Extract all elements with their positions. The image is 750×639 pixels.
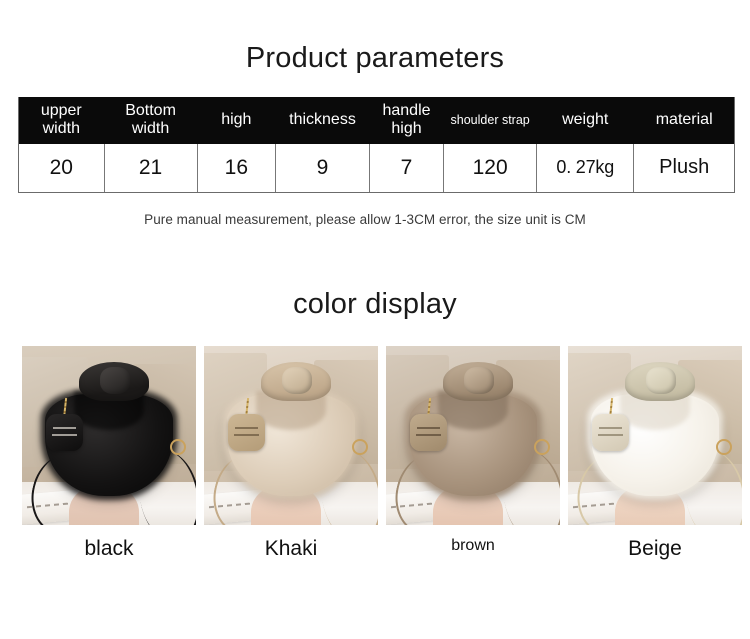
strap-ring-icon	[534, 439, 550, 455]
column-header-upper-width: upper width	[19, 97, 104, 144]
value-shoulder-strap: 120	[444, 144, 537, 192]
value-thickness: 9	[276, 144, 370, 192]
value-bottom-width: 21	[104, 144, 197, 192]
handle-knot	[646, 367, 676, 394]
color-swatch-row: black	[22, 346, 734, 560]
product-photo-scene	[568, 346, 742, 525]
color-label-black: black	[22, 537, 196, 560]
color-option-beige[interactable]: Beige	[568, 346, 742, 560]
product-image-brown[interactable]	[386, 346, 560, 525]
product-image-khaki[interactable]	[204, 346, 378, 525]
product-photo-scene	[204, 346, 378, 525]
color-label-khaki: Khaki	[204, 537, 378, 560]
tag-text-line	[234, 434, 260, 436]
strap-ring-icon	[170, 439, 186, 455]
column-header-material: material	[634, 97, 734, 144]
brand-tag	[592, 414, 629, 452]
brand-tag	[228, 414, 265, 452]
column-header-thickness: thickness	[276, 97, 370, 144]
handle-knot	[464, 367, 494, 394]
handle-knot	[100, 367, 130, 394]
color-label-brown: brown	[386, 537, 560, 555]
handle-knot	[282, 367, 312, 394]
color-display-title: color display	[0, 227, 750, 321]
tag-text-line	[599, 427, 622, 429]
tag-text-line	[416, 434, 442, 436]
value-high: 16	[197, 144, 276, 192]
tag-text-line	[235, 427, 258, 429]
measurement-disclaimer: Pure manual measurement, please allow 1-…	[0, 212, 730, 227]
strap-ring-icon	[716, 439, 732, 455]
page-title: Product parameters	[0, 0, 750, 75]
brand-tag	[410, 414, 447, 452]
column-header-handle-high: handle high	[369, 97, 443, 144]
product-photo-scene	[22, 346, 196, 525]
value-handle-high: 7	[369, 144, 443, 192]
parameters-table: upper width Bottom width high thickness …	[19, 97, 734, 192]
table-header-row: upper width Bottom width high thickness …	[19, 97, 734, 144]
strap-ring-icon	[352, 439, 368, 455]
tag-text-line	[417, 427, 440, 429]
column-header-weight: weight	[537, 97, 634, 144]
color-option-brown[interactable]: brown	[386, 346, 560, 560]
parameters-table-container: upper width Bottom width high thickness …	[18, 97, 735, 193]
color-option-black[interactable]: black	[22, 346, 196, 560]
brand-tag	[46, 414, 83, 452]
table-row: 20 21 16 9 7 120 0. 27kg Plush	[19, 144, 734, 192]
product-image-beige[interactable]	[568, 346, 742, 525]
color-label-beige: Beige	[568, 537, 742, 560]
color-option-khaki[interactable]: Khaki	[204, 346, 378, 560]
value-upper-width: 20	[19, 144, 104, 192]
value-weight: 0. 27kg	[537, 144, 634, 192]
tag-text-line	[52, 434, 78, 436]
product-image-black[interactable]	[22, 346, 196, 525]
tag-text-line	[53, 427, 76, 429]
product-photo-scene	[386, 346, 560, 525]
column-header-shoulder-strap: shoulder strap	[444, 97, 537, 144]
column-header-bottom-width: Bottom width	[104, 97, 197, 144]
value-material: Plush	[634, 144, 734, 192]
tag-text-line	[598, 434, 624, 436]
column-header-high: high	[197, 97, 276, 144]
